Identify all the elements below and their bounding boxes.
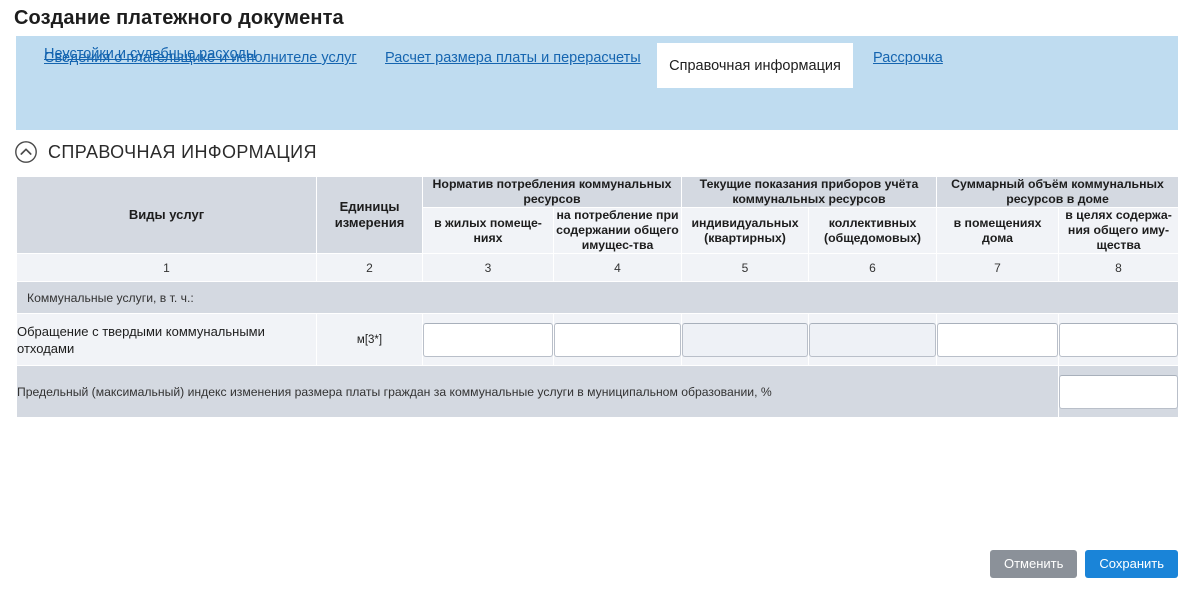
input-volume-in-premises[interactable] [937, 323, 1058, 357]
column-number-5: 5 [682, 254, 809, 282]
reference-information-table: Виды услуг Единицы измерения Норматив по… [16, 176, 1179, 418]
footer-row-label: Предельный (максимальный) индекс изменен… [17, 366, 1059, 418]
header-group-consumption-standard: Норматив потребления коммунальных ресурс… [423, 177, 682, 208]
chevron-up-circle-icon[interactable] [14, 140, 38, 164]
section-header-reference-information[interactable]: СПРАВОЧНАЯ ИНФОРМАЦИЯ [14, 140, 317, 164]
column-number-7: 7 [937, 254, 1059, 282]
column-number-8: 8 [1059, 254, 1179, 282]
column-number-4: 4 [554, 254, 682, 282]
input-standard-residential[interactable] [423, 323, 553, 357]
page-title: Создание платежного документа [0, 0, 1192, 31]
cell-volume-common-property [1059, 314, 1179, 366]
column-number-1: 1 [17, 254, 317, 282]
input-standard-common-property[interactable] [554, 323, 681, 357]
cell-reading-individual [682, 314, 809, 366]
column-number-3: 3 [423, 254, 554, 282]
row-unit-of-measure: м[3*] [317, 314, 423, 366]
table-column-number-row: 1 2 3 4 5 6 7 8 [17, 254, 1179, 282]
group-row-label: Коммунальные услуги, в т. ч.: [17, 282, 1179, 314]
save-button[interactable]: Сохранить [1085, 550, 1178, 578]
header-collective-meters: коллективных (общедомовых) [809, 208, 937, 254]
header-residential-premises: в жилых помеще-ниях [423, 208, 554, 254]
tab-installment[interactable]: Рассрочка [873, 50, 943, 66]
cancel-button[interactable]: Отменить [990, 550, 1077, 578]
header-for-common-property: в целях содержа-ния общего иму-щества [1059, 208, 1179, 254]
cell-max-index-value [1059, 366, 1179, 418]
header-common-property-maintenance: на потребление при содержании общего иму… [554, 208, 682, 254]
tab-bar: Сведения о плательщике и исполнителе усл… [16, 36, 1178, 130]
tab-fee-calculation-and-recalculation[interactable]: Расчет размера платы и перерасчеты [385, 50, 641, 66]
input-reading-individual [682, 323, 808, 357]
section-title: СПРАВОЧНАЯ ИНФОРМАЦИЯ [48, 140, 317, 164]
tab-reference-information[interactable]: Справочная информация [657, 43, 853, 88]
cell-reading-collective [809, 314, 937, 366]
tab-penalties-and-court-costs[interactable]: Неустойки и судебные расходы [44, 46, 256, 62]
header-group-total-volume-in-building: Суммарный объём коммунальных ресурсов в … [937, 177, 1179, 208]
column-number-2: 2 [317, 254, 423, 282]
input-reading-collective [809, 323, 936, 357]
cell-standard-residential [423, 314, 554, 366]
form-action-bar: Отменить Сохранить [990, 550, 1178, 578]
input-volume-common-property[interactable] [1059, 323, 1178, 357]
header-in-building-premises: в помещениях дома [937, 208, 1059, 254]
table-footer-row-max-index: Предельный (максимальный) индекс изменен… [17, 366, 1179, 418]
input-max-index-value[interactable] [1059, 375, 1178, 409]
table-group-row-utility-services: Коммунальные услуги, в т. ч.: [17, 282, 1179, 314]
row-service-name: Обращение с твердыми коммунальными отход… [17, 314, 317, 366]
cell-standard-common-property [554, 314, 682, 366]
header-units: Единицы измерения [317, 177, 423, 254]
column-number-6: 6 [809, 254, 937, 282]
cell-volume-in-premises [937, 314, 1059, 366]
header-service-types: Виды услуг [17, 177, 317, 254]
header-individual-meters: индивидуальных (квартирных) [682, 208, 809, 254]
table-header-row-groups: Виды услуг Единицы измерения Норматив по… [17, 177, 1179, 208]
header-group-current-meter-readings: Текущие показания приборов учёта коммуна… [682, 177, 937, 208]
table-row: Обращение с твердыми коммунальными отход… [17, 314, 1179, 366]
